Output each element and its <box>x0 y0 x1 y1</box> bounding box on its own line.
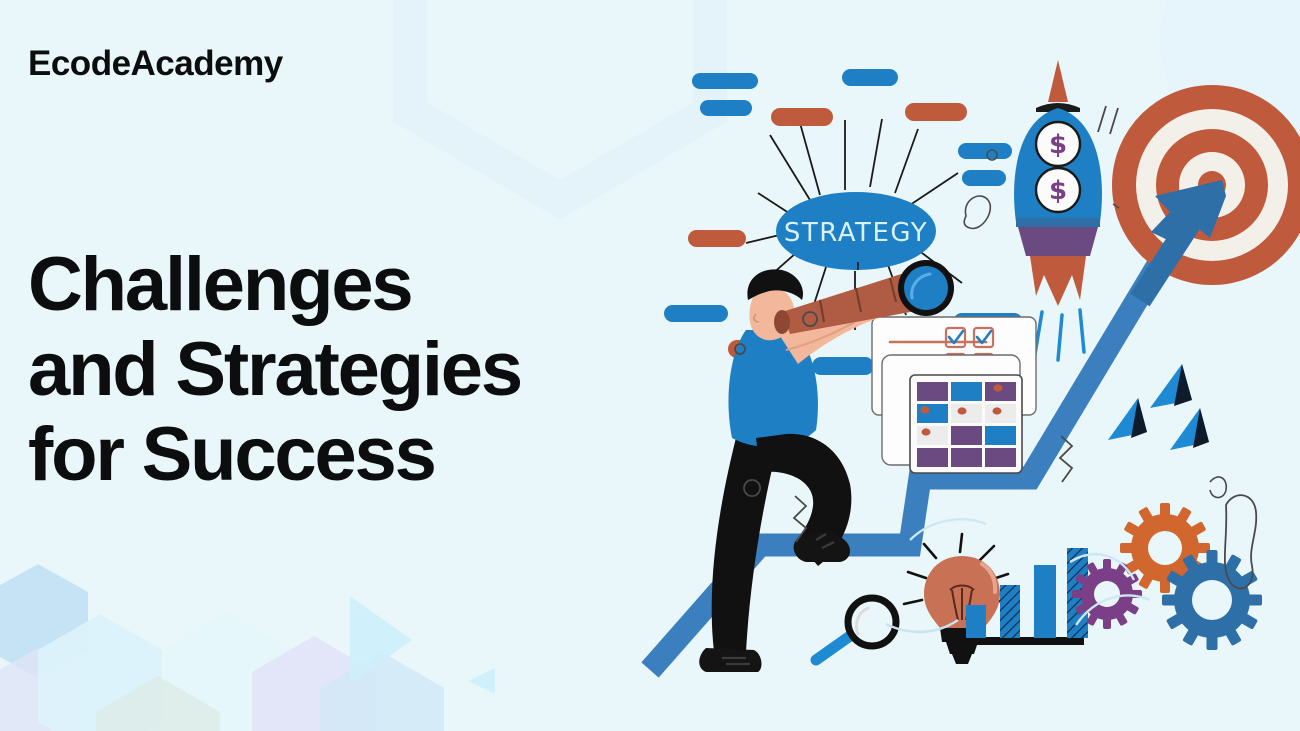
brand-logo-text[interactable]: EcodeAcademy <box>28 44 283 84</box>
hero-illustration: $ $ <box>610 0 1300 731</box>
triangle-decor-left <box>493 681 495 694</box>
mindmap-node <box>812 357 874 375</box>
illustration-svg: $ $ <box>610 0 1300 731</box>
bar-chart-baseline <box>954 637 1084 645</box>
mindmap-node <box>688 230 746 247</box>
page-title-line-2: and Strategies <box>28 327 521 412</box>
calendar-grid-card <box>910 375 1022 473</box>
page-title-line-3: for Success <box>28 412 521 497</box>
mindmap-node <box>962 170 1006 186</box>
mindmap-node <box>700 100 752 116</box>
mindmap-node <box>842 69 898 86</box>
mindmap-node <box>664 305 728 322</box>
triangle-decor-right <box>350 596 412 684</box>
svg-text:$: $ <box>1049 130 1067 160</box>
paper-plane <box>1108 398 1147 440</box>
bar-chart-bar <box>1000 585 1020 638</box>
poster-canvas: EcodeAcademy Challenges and Strategies f… <box>0 0 1300 731</box>
mindmap-node <box>958 143 1012 159</box>
paper-plane <box>1150 364 1192 408</box>
magnifier-icon <box>816 598 896 660</box>
bar-chart-bar <box>1034 565 1056 638</box>
mindmap-node <box>771 108 833 126</box>
hexagon-cluster-bottom-left <box>0 564 444 731</box>
page-title: Challenges and Strategies for Success <box>28 242 521 497</box>
mindmap-center-label: STRATEGY <box>784 218 928 248</box>
mindmap-node <box>905 103 967 121</box>
paper-plane <box>1170 408 1209 450</box>
triangle-decor-facing-left <box>468 668 495 694</box>
svg-text:$: $ <box>1049 176 1067 206</box>
bar-chart-bar <box>966 605 986 638</box>
gears-group <box>1072 503 1262 650</box>
mindmap-node <box>692 73 758 89</box>
paper-planes-group <box>1108 364 1209 450</box>
page-title-line-1: Challenges <box>28 242 521 327</box>
rocket-icon: $ $ <box>1014 60 1102 360</box>
